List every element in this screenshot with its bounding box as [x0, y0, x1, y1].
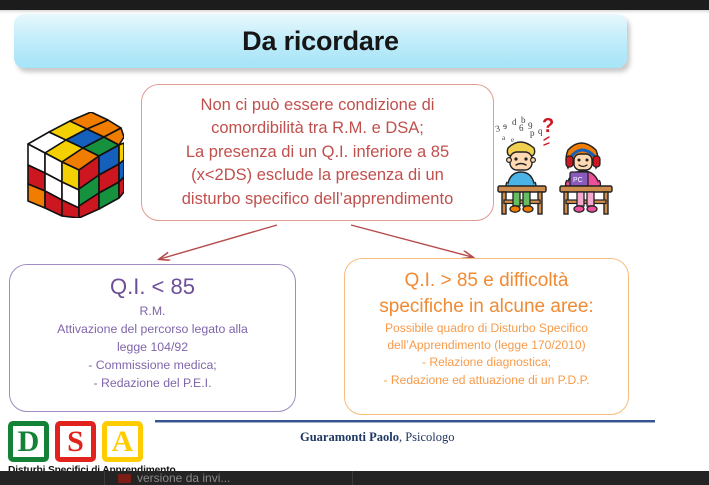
- right-box-heading-line-2: specifiche in alcune aree:: [345, 295, 628, 319]
- pdf-file-icon: [118, 474, 131, 483]
- credit-author-role: , Psicologo: [399, 430, 455, 444]
- central-line-5: disturbo specifico dell’apprendimento: [182, 188, 454, 211]
- footer-divider: [155, 420, 655, 423]
- presentation-slide: Da ricordare: [0, 0, 709, 485]
- left-box-line-5: - Redazione del P.E.I.: [10, 375, 295, 393]
- taskbar-divider-right: [352, 471, 353, 485]
- taskbar-divider-left: [104, 471, 105, 485]
- arrow-to-right-box: [351, 225, 472, 257]
- central-line-2: comordibilità tra R.M. e DSA;: [211, 117, 424, 140]
- top-window-bar: [0, 0, 709, 10]
- svg-text:ɘ: ɘ: [503, 121, 507, 131]
- central-line-4: (x<2DS) esclude la presenza di un: [191, 164, 444, 187]
- left-box-line-2: Attivazione del percorso legato alla: [10, 321, 295, 339]
- outcome-box-low-iq: Q.I. < 85 R.M. Attivazione del percorso …: [9, 264, 296, 412]
- svg-text:d: d: [512, 117, 517, 127]
- credit-author-name: Guaramonti Paolo: [300, 430, 399, 444]
- children-desks-icon: 3 ɘ d b 6 9 p q a e ?: [494, 112, 626, 216]
- dsa-tile-d: D: [8, 421, 49, 462]
- central-line-3: La presenza di un Q.I. inferiore a 85: [186, 141, 449, 164]
- os-taskbar: versione da invi...: [0, 471, 709, 485]
- svg-text:3: 3: [494, 123, 501, 134]
- central-line-1: Non ci può essere condizione di: [201, 94, 435, 117]
- slide-title-banner: Da ricordare: [14, 14, 627, 68]
- svg-text:p: p: [530, 128, 535, 138]
- left-box-heading: Q.I. < 85: [10, 274, 295, 299]
- left-box-line-4: - Commissione medica;: [10, 357, 295, 375]
- taskbar-item-label: versione da invi...: [137, 471, 230, 485]
- dsa-tile-s: S: [55, 421, 96, 462]
- taskbar-item-pdf[interactable]: versione da invi...: [118, 471, 230, 485]
- two-children-at-desks-illustration: 3 ɘ d b 6 9 p q a e ?: [494, 112, 626, 216]
- central-statement-box: Non ci può essere condizione di comordib…: [141, 84, 494, 221]
- dsa-logo-tiles: D S A: [8, 421, 158, 462]
- right-box-heading-line-1: Q.I. > 85 e difficoltà: [345, 269, 628, 293]
- svg-text:?: ?: [542, 115, 554, 137]
- right-box-line-1: Possibile quadro di Disturbo Specifico: [345, 320, 628, 337]
- arrow-to-left-box: [160, 225, 277, 259]
- outcome-box-high-iq: Q.I. > 85 e difficoltà specifiche in alc…: [344, 258, 629, 415]
- rubiks-cube-icon: [16, 112, 124, 218]
- svg-text:a: a: [502, 134, 506, 142]
- dsa-tile-a: A: [102, 421, 143, 462]
- right-box-line-3: - Relazione diagnostica;: [345, 354, 628, 371]
- slide-title: Da ricordare: [242, 26, 399, 57]
- footer-credits: Guaramonti Paolo, Psicologo: [300, 430, 455, 445]
- right-box-line-4: - Redazione ed attuazione di un P.D.P.: [345, 372, 628, 389]
- laptop-screen-label: PC: [573, 177, 583, 184]
- rubiks-cube-illustration: [16, 112, 124, 218]
- left-box-line-1: R.M.: [10, 303, 295, 321]
- svg-text:e: e: [511, 136, 514, 144]
- left-box-line-3: legge 104/92: [10, 339, 295, 357]
- svg-text:6: 6: [519, 123, 524, 133]
- right-box-line-2: dell’Apprendimento (legge 170/2010): [345, 337, 628, 354]
